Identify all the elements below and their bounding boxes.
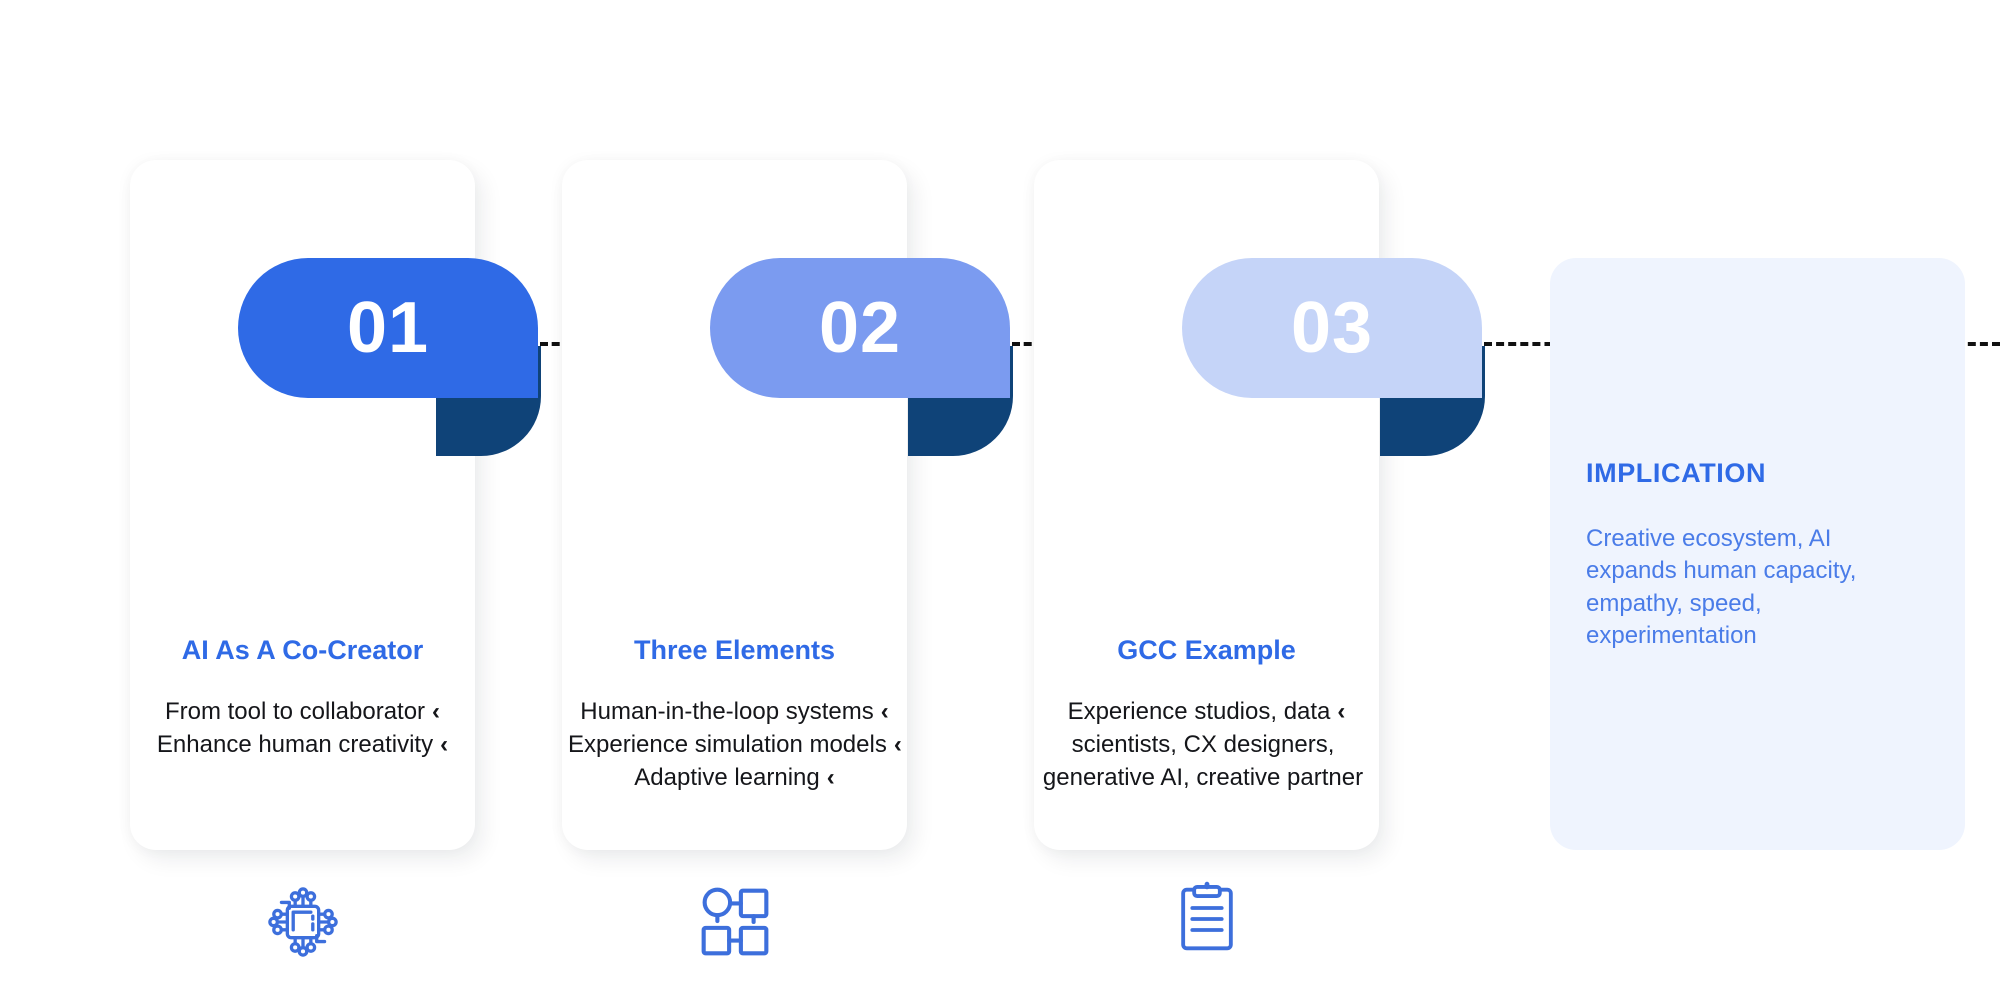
step-body-02: Human-in-the-loop systems‹ Experience si… bbox=[562, 695, 907, 794]
body-line-text: Adaptive learning bbox=[634, 764, 819, 791]
infographic-canvas: AI As A Co-Creator From tool to collabor… bbox=[0, 0, 2000, 1000]
step-icon-01-wrap bbox=[130, 875, 475, 969]
implication-body: Creative ecosystem, AI expands human cap… bbox=[1586, 523, 1916, 653]
step-number-01: 01 bbox=[347, 292, 429, 364]
microchip-icon bbox=[256, 875, 350, 969]
step-number-03: 03 bbox=[1291, 292, 1373, 364]
step-number-02: 02 bbox=[819, 292, 901, 364]
step-icon-03-wrap bbox=[1034, 875, 1379, 963]
step-badge-02[interactable]: 02 bbox=[710, 258, 1010, 398]
body-line: Human-in-the-loop systems‹ bbox=[568, 695, 901, 728]
implication-panel[interactable]: IMPLICATION Creative ecosystem, AI expan… bbox=[1550, 258, 1965, 850]
body-line-text: scientists, CX designers, bbox=[1072, 731, 1335, 758]
chevron-left-icon: ‹ bbox=[440, 728, 448, 761]
badge-pill-01: 01 bbox=[238, 258, 538, 398]
body-line-text: generative AI, creative partner bbox=[1043, 764, 1363, 791]
body-line: scientists, CX designers, bbox=[1040, 728, 1373, 761]
network-diagram-icon bbox=[688, 875, 782, 969]
chevron-left-icon: ‹ bbox=[827, 761, 835, 794]
chevron-left-icon: ‹ bbox=[1337, 695, 1345, 728]
step-icon-02-wrap bbox=[562, 875, 907, 969]
badge-pill-02: 02 bbox=[710, 258, 1010, 398]
body-line-text: Experience simulation models bbox=[568, 731, 887, 758]
implication-title: IMPLICATION bbox=[1586, 458, 1766, 489]
body-line: From tool to collaborator‹ bbox=[136, 695, 469, 728]
step-body-03: Experience studios, data‹ scientists, CX… bbox=[1034, 695, 1379, 794]
body-line: Enhance human creativity‹ bbox=[136, 728, 469, 761]
chevron-left-icon: ‹ bbox=[432, 695, 440, 728]
body-line-text: Human-in-the-loop systems bbox=[580, 698, 873, 725]
chevron-left-icon: ‹ bbox=[881, 695, 889, 728]
step-title-02: Three Elements bbox=[562, 635, 907, 666]
step-body-01: From tool to collaborator‹ Enhance human… bbox=[130, 695, 475, 761]
body-line-text: Experience studios, data bbox=[1068, 698, 1331, 725]
step-badge-03[interactable]: 03 bbox=[1182, 258, 1482, 398]
body-line: Experience simulation models‹ bbox=[568, 728, 901, 761]
body-line: generative AI, creative partner bbox=[1040, 761, 1373, 794]
body-line: Adaptive learning‹ bbox=[568, 761, 901, 794]
clipboard-icon bbox=[1163, 875, 1251, 963]
step-badge-01[interactable]: 01 bbox=[238, 258, 538, 398]
step-title-03: GCC Example bbox=[1034, 635, 1379, 666]
step-title-01: AI As A Co-Creator bbox=[130, 635, 475, 666]
chevron-left-icon: ‹ bbox=[894, 728, 902, 761]
body-line-text: Enhance human creativity bbox=[157, 731, 433, 758]
body-line-text: From tool to collaborator bbox=[165, 698, 425, 725]
badge-pill-03: 03 bbox=[1182, 258, 1482, 398]
body-line: Experience studios, data‹ bbox=[1040, 695, 1373, 728]
